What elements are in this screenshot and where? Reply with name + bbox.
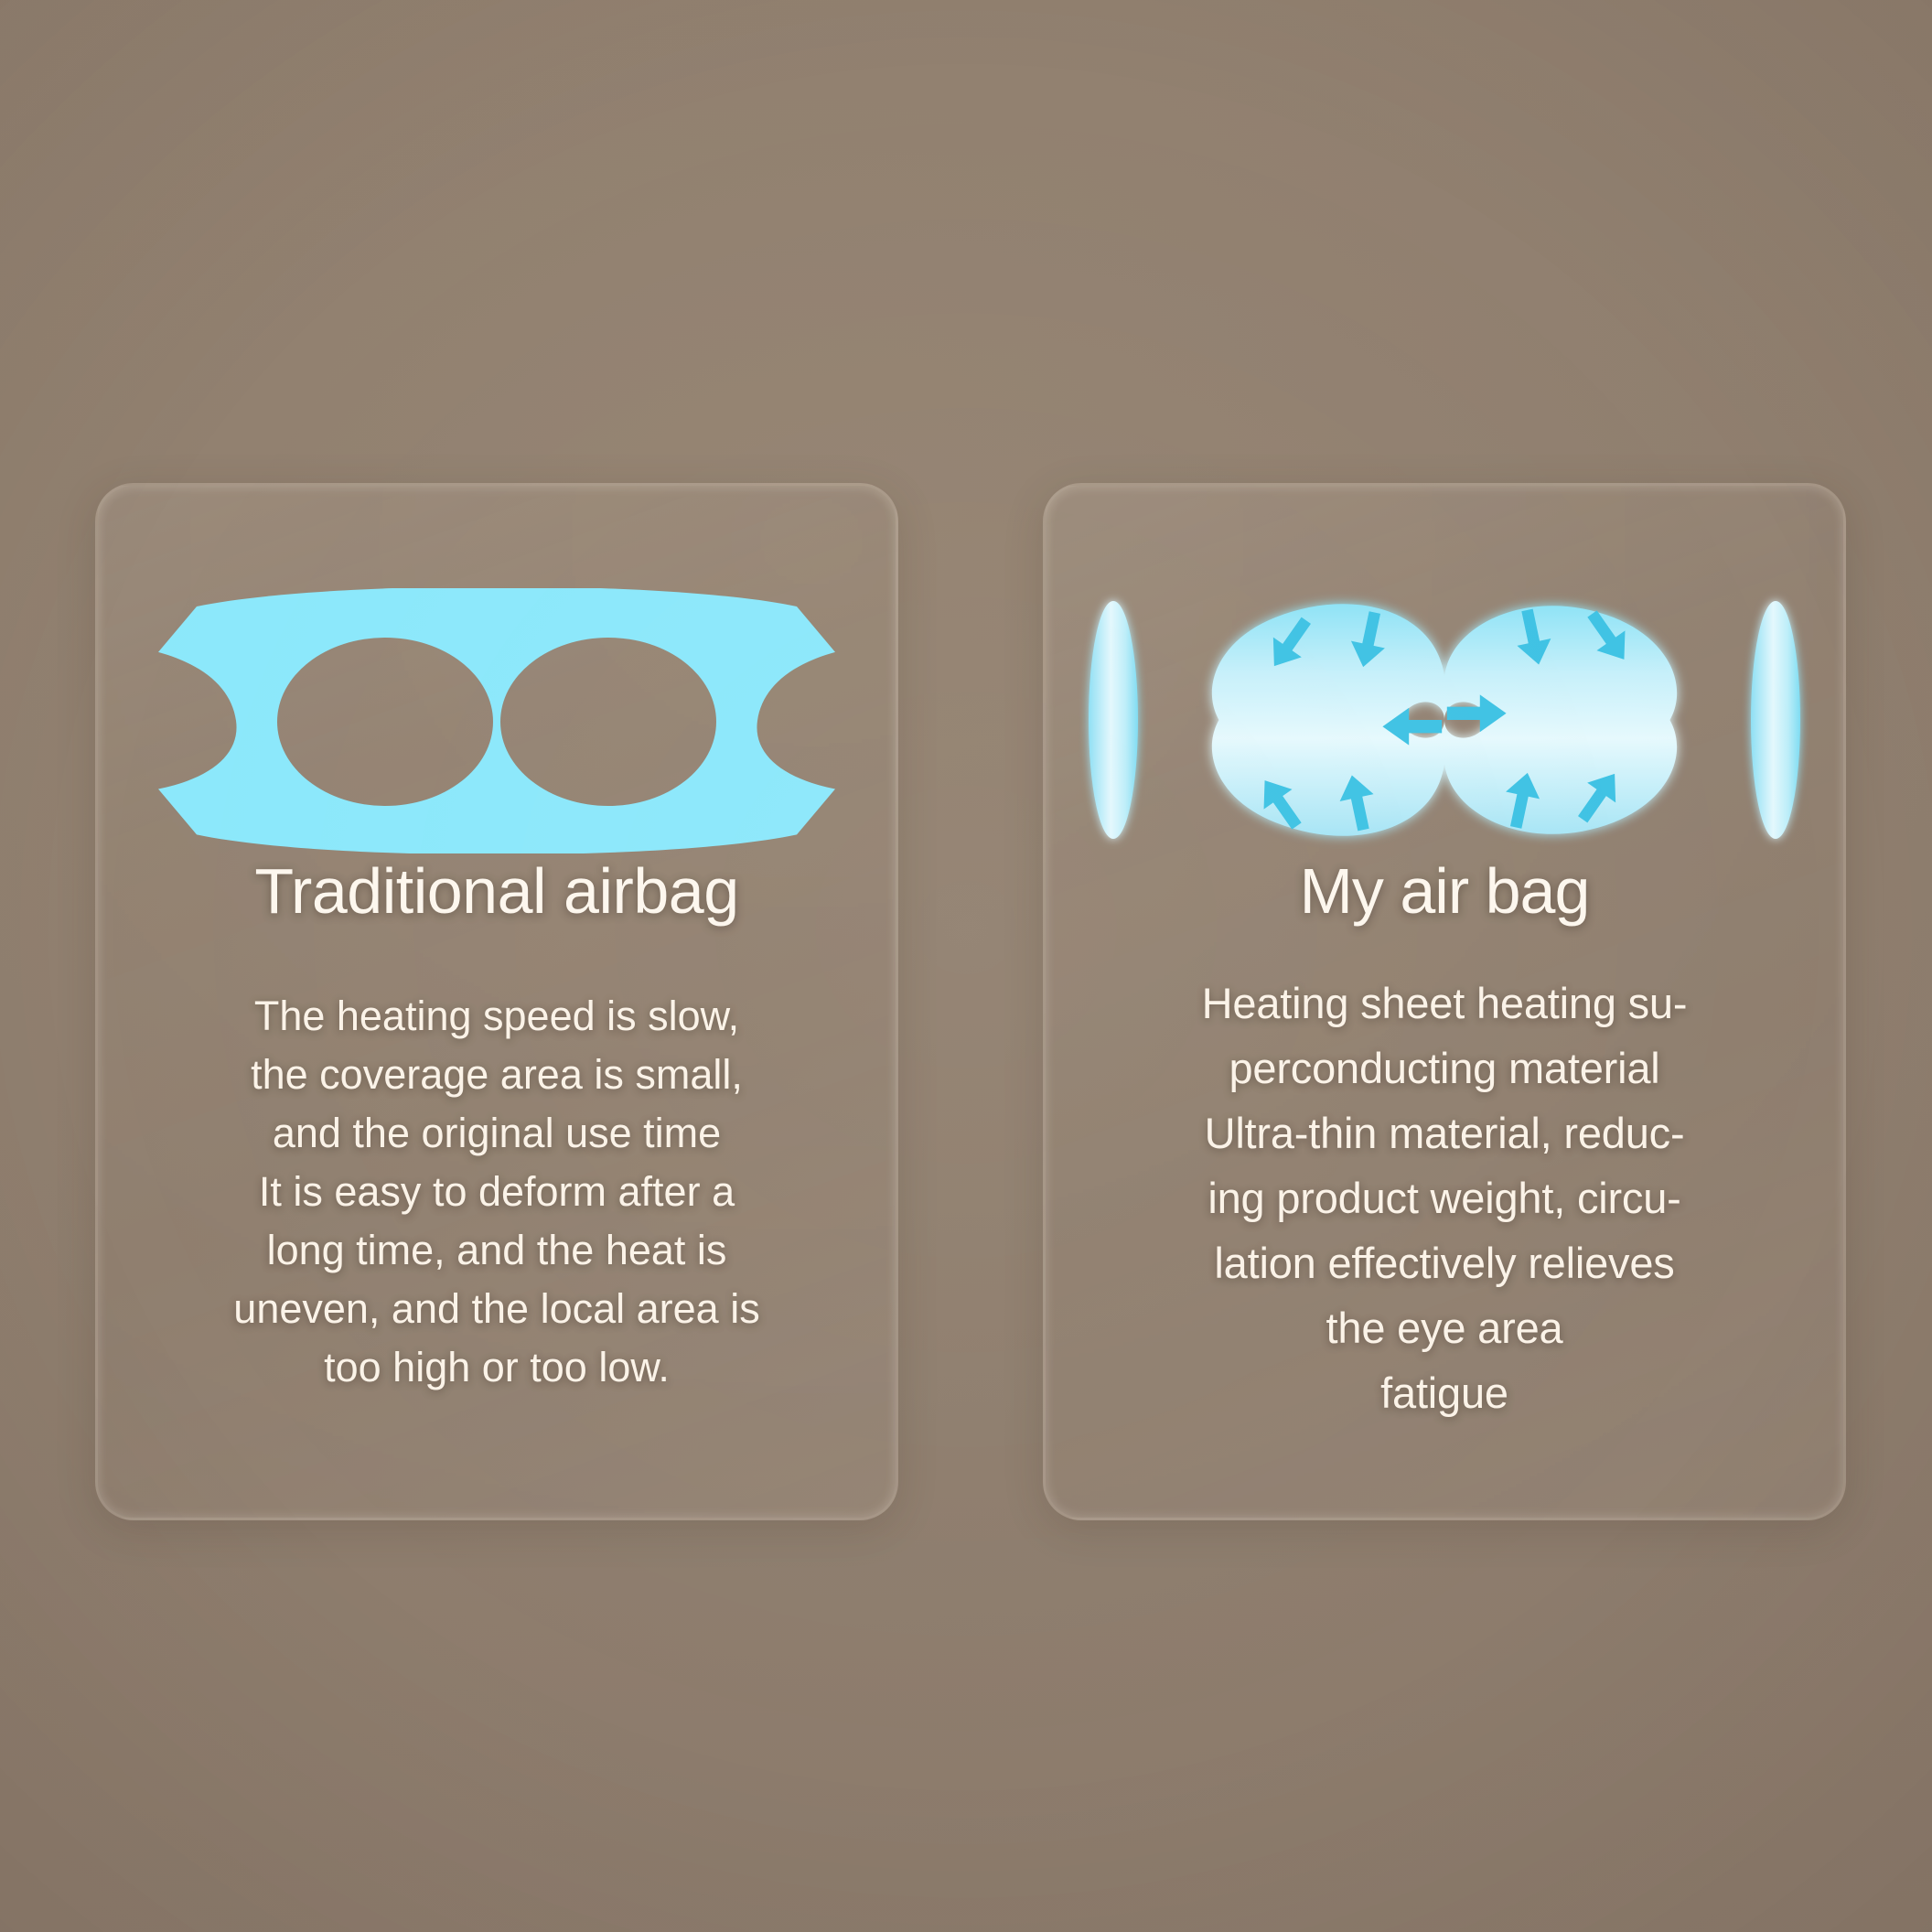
my-air-bag-butterfly-graphic xyxy=(1079,574,1810,866)
side-bar-right-icon xyxy=(1751,601,1800,839)
card-body-my-air-bag: Heating sheet heating su- perconducting … xyxy=(1106,971,1783,1425)
body-line: uneven, and the local area is xyxy=(177,1280,817,1338)
body-line: Ultra-thin material, reduc- xyxy=(1106,1100,1783,1165)
body-line: Heating sheet heating su- xyxy=(1106,971,1783,1036)
body-line: perconducting material xyxy=(1106,1036,1783,1100)
card-title-my-air-bag: My air bag xyxy=(1300,859,1590,923)
body-line: ing product weight, circu- xyxy=(1106,1165,1783,1230)
card-my-air-bag: My air bag Heating sheet heating su- per… xyxy=(1043,483,1846,1520)
card-body-traditional: The heating speed is slow, the coverage … xyxy=(177,987,817,1397)
body-line: too high or too low. xyxy=(177,1338,817,1397)
side-bar-left-icon xyxy=(1089,601,1138,839)
card-traditional-airbag: Traditional airbag The heating speed is … xyxy=(95,483,898,1520)
body-line: and the original use time xyxy=(177,1104,817,1163)
body-line: long time, and the heat is xyxy=(177,1221,817,1280)
body-line: It is easy to deform after a xyxy=(177,1163,817,1221)
traditional-airbag-mask-graphic xyxy=(158,588,835,853)
comparison-poster: Traditional airbag The heating speed is … xyxy=(0,0,1932,1932)
body-line: the coverage area is small, xyxy=(177,1046,817,1104)
card-title-traditional: Traditional airbag xyxy=(254,859,738,923)
figure-zone-left xyxy=(98,486,896,852)
body-line: fatigue xyxy=(1106,1360,1783,1425)
body-line: the eye area xyxy=(1106,1295,1783,1360)
body-line: lation effectively relieves xyxy=(1106,1230,1783,1295)
figure-zone-right xyxy=(1046,486,1843,852)
body-line: The heating speed is slow, xyxy=(177,987,817,1046)
